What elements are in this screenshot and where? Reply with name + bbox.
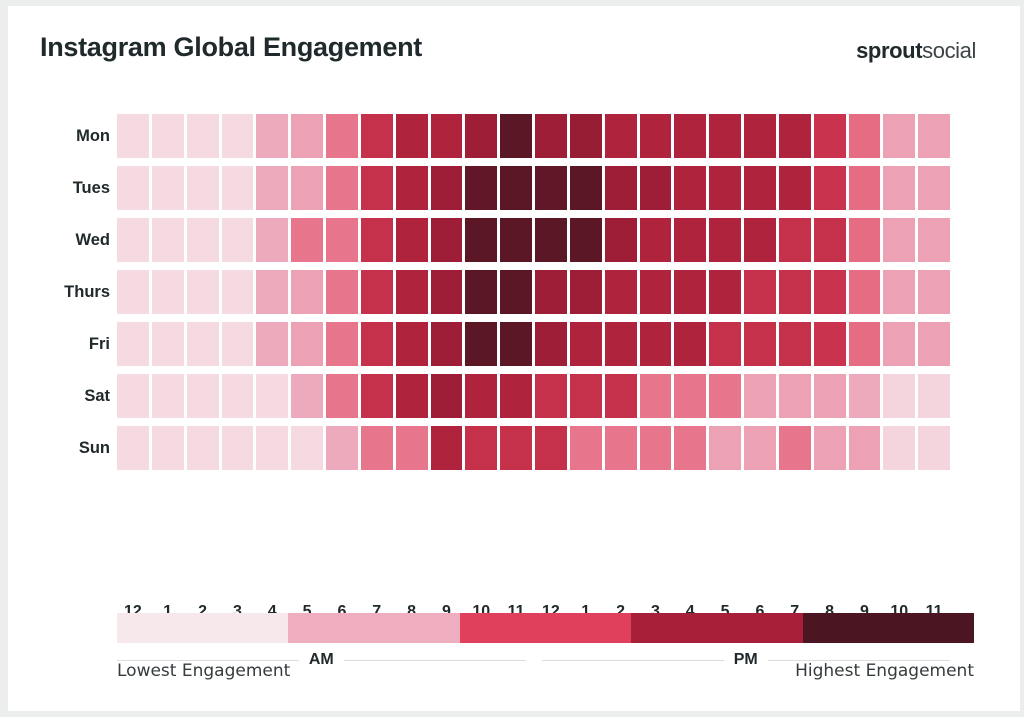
heatmap-cell — [779, 270, 811, 314]
heatmap-cell — [361, 270, 393, 314]
heatmap-cell — [465, 322, 497, 366]
legend-swatch — [288, 613, 459, 643]
heatmap-cell — [605, 218, 637, 262]
heatmap-cell — [152, 114, 184, 158]
heatmap-cell — [291, 374, 323, 418]
heatmap-cell — [465, 114, 497, 158]
heatmap-cell — [256, 426, 288, 470]
heatmap-cell — [256, 114, 288, 158]
heatmap-cell — [326, 374, 358, 418]
heatmap-cell — [117, 218, 149, 262]
heatmap-cell — [849, 166, 881, 210]
legend-swatch — [460, 613, 631, 643]
heatmap-cell — [396, 218, 428, 262]
heatmap-cell — [326, 426, 358, 470]
heatmap-cell — [500, 270, 532, 314]
heatmap-cell — [431, 270, 463, 314]
heatmap-cell — [152, 426, 184, 470]
heatmap-cell — [465, 374, 497, 418]
heatmap-cell — [326, 218, 358, 262]
heatmap-area: MonTuesWedThursFriSatSun 121234567891011… — [8, 106, 1020, 486]
heatmap-cell — [535, 218, 567, 262]
heatmap-cell — [535, 426, 567, 470]
day-label: Wed — [32, 218, 110, 270]
heatmap-cell — [117, 166, 149, 210]
heatmap-cell — [431, 322, 463, 366]
heatmap-cell — [744, 114, 776, 158]
logo-light-text: social — [922, 38, 976, 63]
heatmap-cell — [674, 114, 706, 158]
heatmap-cell — [570, 374, 602, 418]
heatmap-cell — [465, 166, 497, 210]
heatmap-cell — [291, 322, 323, 366]
heatmap-cell — [465, 426, 497, 470]
heatmap-cell — [396, 426, 428, 470]
heatmap-cell — [535, 166, 567, 210]
heatmap-cell — [291, 426, 323, 470]
heatmap-cell — [256, 218, 288, 262]
heatmap-cell — [640, 270, 672, 314]
legend-swatch — [631, 613, 802, 643]
heatmap-cell — [570, 114, 602, 158]
heatmap-cell — [222, 426, 254, 470]
heatmap-cell — [814, 218, 846, 262]
heatmap-cell — [814, 426, 846, 470]
heatmap-cell — [187, 322, 219, 366]
heatmap-cell — [570, 426, 602, 470]
heatmap-cell — [709, 374, 741, 418]
heatmap-cell — [500, 166, 532, 210]
heatmap-cell — [187, 426, 219, 470]
heatmap-cell — [256, 322, 288, 366]
legend-low-label: Lowest Engagement — [117, 661, 290, 681]
heatmap-cell — [570, 322, 602, 366]
heatmap-cell — [500, 218, 532, 262]
heatmap-cell — [535, 322, 567, 366]
heatmap-cell — [918, 322, 950, 366]
legend-color-bar — [117, 613, 974, 643]
heatmap-cell — [779, 218, 811, 262]
legend-high-label: Highest Engagement — [795, 661, 974, 681]
heatmap-cell — [605, 426, 637, 470]
page-title: Instagram Global Engagement — [40, 32, 422, 63]
legend-swatch — [803, 613, 974, 643]
day-label: Fri — [32, 322, 110, 374]
heatmap-cell — [744, 374, 776, 418]
color-legend: Lowest Engagement Highest Engagement — [117, 613, 974, 681]
heatmap-cell — [256, 374, 288, 418]
heatmap-cell — [326, 114, 358, 158]
heatmap-cell — [222, 114, 254, 158]
day-label: Sun — [32, 426, 110, 478]
day-label: Tues — [32, 166, 110, 218]
heatmap-cell — [744, 322, 776, 366]
heatmap-cell — [640, 114, 672, 158]
heatmap-cell — [152, 166, 184, 210]
day-axis-labels: MonTuesWedThursFriSatSun — [32, 114, 110, 478]
heatmap-cell — [117, 270, 149, 314]
heatmap-grid — [117, 114, 950, 470]
heatmap-cell — [918, 426, 950, 470]
heatmap-cell — [709, 426, 741, 470]
heatmap-cell — [605, 114, 637, 158]
heatmap-cell — [779, 426, 811, 470]
legend-swatch — [117, 613, 288, 643]
heatmap-cell — [883, 426, 915, 470]
heatmap-cell — [187, 374, 219, 418]
heatmap-cell — [291, 166, 323, 210]
heatmap-cell — [849, 374, 881, 418]
heatmap-cell — [431, 426, 463, 470]
heatmap-cell — [187, 270, 219, 314]
heatmap-cell — [187, 218, 219, 262]
heatmap-cell — [465, 218, 497, 262]
heatmap-cell — [222, 322, 254, 366]
heatmap-cell — [883, 114, 915, 158]
heatmap-cell — [222, 374, 254, 418]
heatmap-cell — [361, 218, 393, 262]
heatmap-cell — [500, 374, 532, 418]
heatmap-cell — [744, 166, 776, 210]
heatmap-cell — [849, 114, 881, 158]
heatmap-cell — [674, 322, 706, 366]
heatmap-cell — [918, 114, 950, 158]
heatmap-cell — [187, 166, 219, 210]
heatmap-cell — [117, 426, 149, 470]
heatmap-cell — [605, 374, 637, 418]
heatmap-cell — [431, 166, 463, 210]
heatmap-cell — [396, 322, 428, 366]
heatmap-cell — [640, 166, 672, 210]
heatmap-cell — [674, 270, 706, 314]
heatmap-cell — [744, 270, 776, 314]
legend-labels: Lowest Engagement Highest Engagement — [117, 661, 974, 681]
heatmap-cell — [152, 322, 184, 366]
day-label: Sat — [32, 374, 110, 426]
heatmap-cell — [849, 270, 881, 314]
heatmap-cell — [291, 114, 323, 158]
heatmap-cell — [709, 114, 741, 158]
heatmap-cell — [779, 114, 811, 158]
heatmap-cell — [465, 270, 497, 314]
heatmap-cell — [396, 374, 428, 418]
heatmap-cell — [256, 270, 288, 314]
heatmap-cell — [361, 426, 393, 470]
heatmap-cell — [152, 218, 184, 262]
heatmap-cell — [291, 270, 323, 314]
heatmap-cell — [222, 218, 254, 262]
heatmap-cell — [570, 166, 602, 210]
heatmap-cell — [814, 322, 846, 366]
heatmap-cell — [535, 270, 567, 314]
heatmap-cell — [152, 374, 184, 418]
heatmap-cell — [326, 322, 358, 366]
sprout-social-logo: sproutsocial — [856, 38, 976, 64]
heatmap-cell — [883, 322, 915, 366]
heatmap-cell — [396, 166, 428, 210]
heatmap-cell — [152, 270, 184, 314]
heatmap-cell — [640, 374, 672, 418]
heatmap-cell — [883, 374, 915, 418]
heatmap-cell — [814, 114, 846, 158]
heatmap-cell — [431, 114, 463, 158]
heatmap-cell — [291, 218, 323, 262]
chart-header: Instagram Global Engagement sproutsocial — [40, 28, 988, 76]
heatmap-cell — [361, 322, 393, 366]
heatmap-cell — [744, 426, 776, 470]
heatmap-cell — [709, 322, 741, 366]
heatmap-cell — [222, 166, 254, 210]
heatmap-cell — [709, 166, 741, 210]
heatmap-cell — [431, 374, 463, 418]
heatmap-cell — [361, 166, 393, 210]
heatmap-cell — [814, 270, 846, 314]
heatmap-cell — [709, 270, 741, 314]
day-label: Thurs — [32, 270, 110, 322]
heatmap-cell — [500, 322, 532, 366]
heatmap-cell — [709, 218, 741, 262]
heatmap-cell — [570, 270, 602, 314]
heatmap-cell — [674, 374, 706, 418]
heatmap-cell — [779, 166, 811, 210]
heatmap-cell — [605, 270, 637, 314]
heatmap-cell — [500, 426, 532, 470]
heatmap-cell — [605, 322, 637, 366]
heatmap-cell — [918, 270, 950, 314]
heatmap-cell — [640, 218, 672, 262]
chart-card: Instagram Global Engagement sproutsocial… — [8, 6, 1020, 711]
heatmap-cell — [326, 270, 358, 314]
heatmap-cell — [535, 114, 567, 158]
heatmap-cell — [674, 426, 706, 470]
heatmap-cell — [814, 166, 846, 210]
heatmap-cell — [535, 374, 567, 418]
heatmap-cell — [361, 114, 393, 158]
heatmap-cell — [849, 426, 881, 470]
heatmap-cell — [779, 374, 811, 418]
heatmap-cell — [256, 166, 288, 210]
heatmap-cell — [779, 322, 811, 366]
heatmap-cell — [117, 114, 149, 158]
heatmap-cell — [361, 374, 393, 418]
logo-bold-text: sprout — [856, 38, 922, 63]
heatmap-cell — [117, 374, 149, 418]
heatmap-cell — [883, 166, 915, 210]
day-label: Mon — [32, 114, 110, 166]
heatmap-cell — [640, 426, 672, 470]
heatmap-cell — [814, 374, 846, 418]
heatmap-cell — [918, 218, 950, 262]
heatmap-cell — [849, 218, 881, 262]
heatmap-cell — [500, 114, 532, 158]
heatmap-cell — [674, 166, 706, 210]
heatmap-cell — [187, 114, 219, 158]
heatmap-cell — [396, 270, 428, 314]
heatmap-cell — [918, 166, 950, 210]
heatmap-cell — [396, 114, 428, 158]
heatmap-cell — [222, 270, 254, 314]
heatmap-cell — [605, 166, 637, 210]
heatmap-cell — [570, 218, 602, 262]
heatmap-cell — [918, 374, 950, 418]
heatmap-cell — [744, 218, 776, 262]
heatmap-cell — [849, 322, 881, 366]
heatmap-cell — [674, 218, 706, 262]
heatmap-cell — [640, 322, 672, 366]
heatmap-cell — [883, 270, 915, 314]
heatmap-cell — [117, 322, 149, 366]
heatmap-cell — [326, 166, 358, 210]
heatmap-cell — [883, 218, 915, 262]
heatmap-cell — [431, 218, 463, 262]
